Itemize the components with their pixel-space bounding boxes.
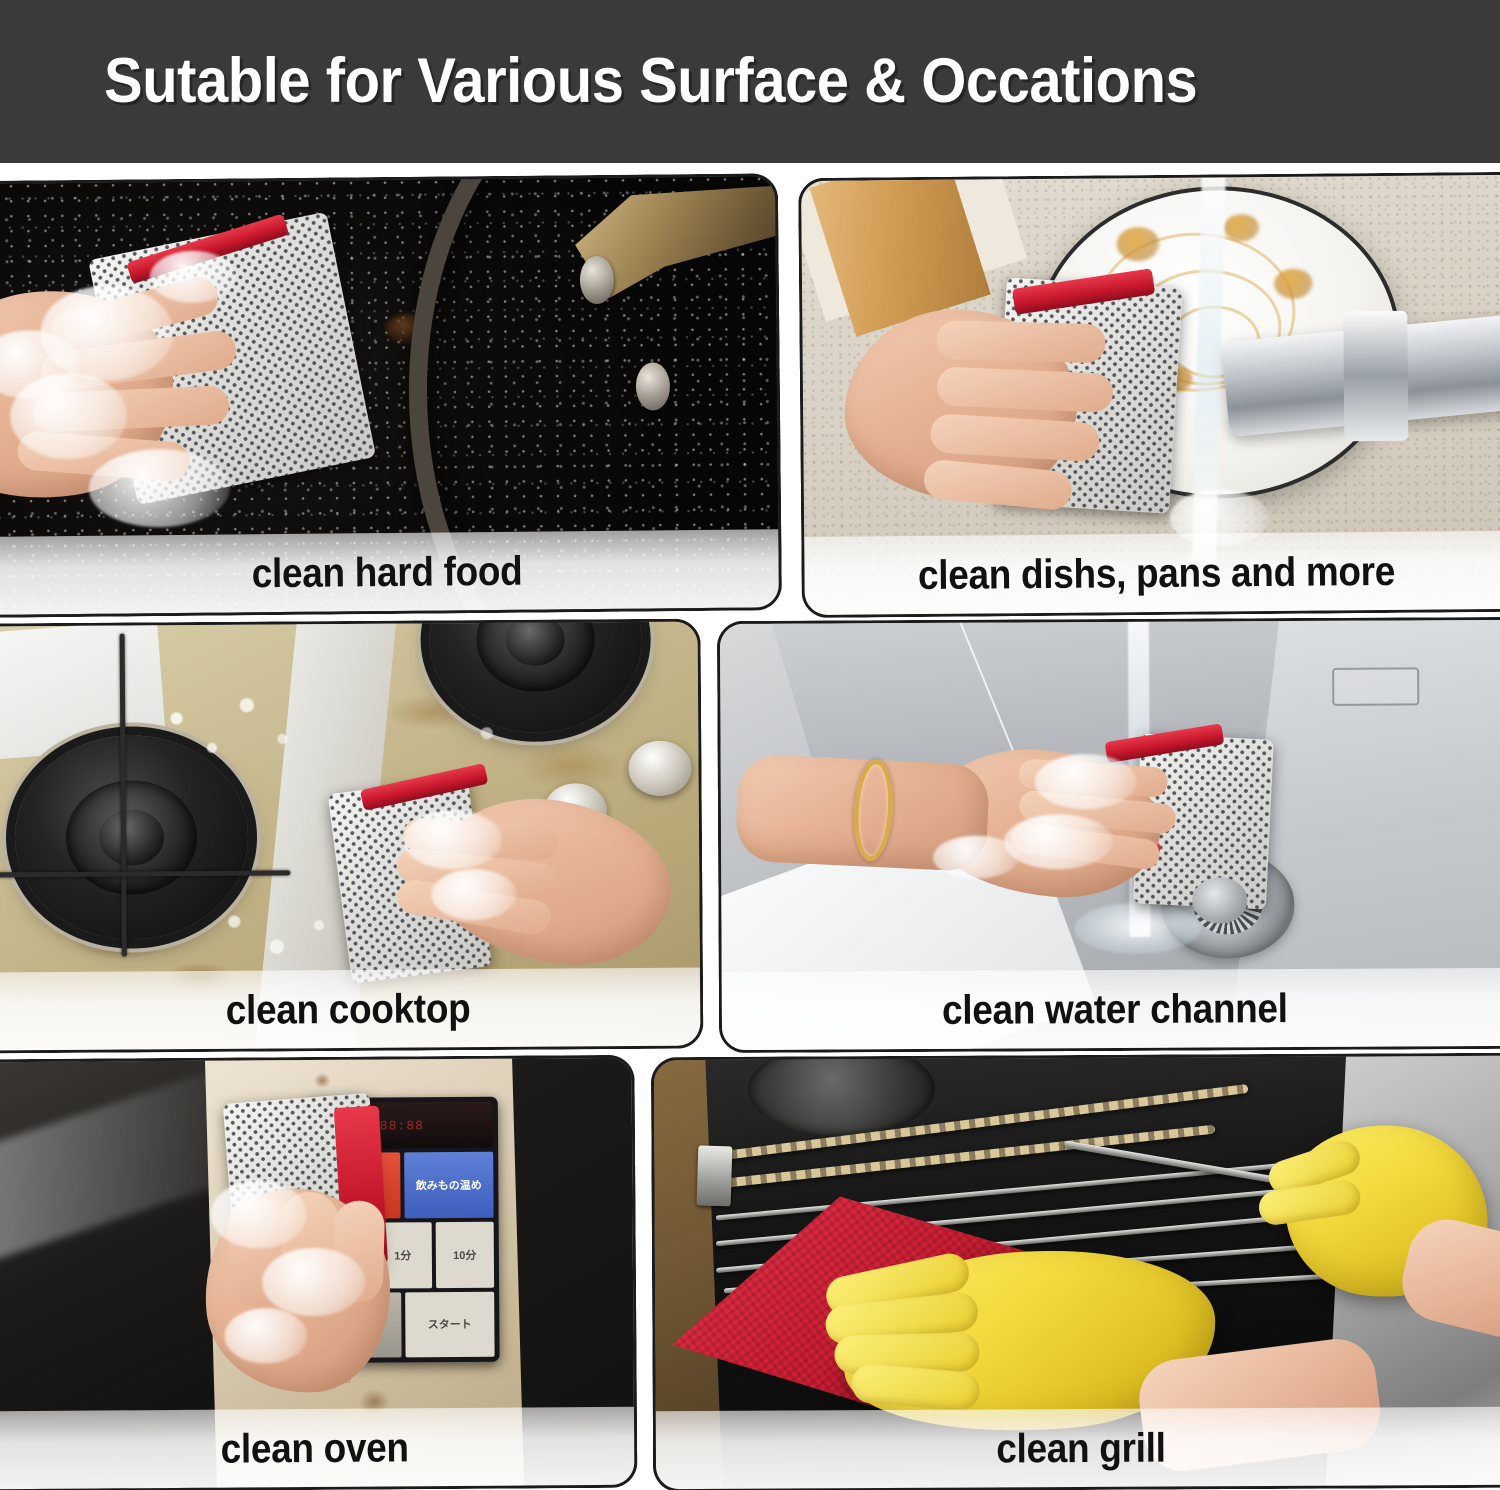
panel-clean-oven[interactable]: 88:88 レンジ 飲みもの温め 10秒 1分 10分 とりけし スタート	[0, 1055, 638, 1490]
caption-strip-dishes: clean dishs, pans and more	[804, 531, 1500, 615]
caption-strip-cooktop: clean cooktop	[0, 968, 700, 1051]
caption-clean-dishes: clean dishs, pans and more	[917, 547, 1394, 598]
caption-strip-grill: clean grill	[656, 1407, 1500, 1489]
caption-strip-water-channel: clean water channel	[722, 968, 1500, 1050]
sauce-spot-1	[1116, 227, 1159, 261]
soap-foam-hand-1	[403, 809, 502, 869]
soap-foam-4	[149, 250, 236, 303]
soap-foam-1	[211, 1180, 307, 1249]
key-10-minutes[interactable]: 10分	[436, 1222, 494, 1288]
sauce-spot-3	[1274, 268, 1314, 299]
page-title: Sutable for Various Surface & Occations	[104, 50, 1197, 113]
soap-foam-2	[262, 1248, 365, 1317]
panel-clean-water-channel[interactable]: clean water channel	[717, 617, 1500, 1053]
display-readout: 88:88	[380, 1118, 424, 1133]
finger-1	[936, 320, 1106, 363]
drain-stopper	[1192, 877, 1247, 924]
panel-clean-grill[interactable]: clean grill	[651, 1053, 1500, 1490]
panel-clean-dishes[interactable]: clean dishs, pans and more	[798, 172, 1500, 618]
caption-clean-grill: clean grill	[997, 1424, 1167, 1472]
caption-clean-oven: clean oven	[221, 1424, 409, 1472]
rack-rail-left	[696, 1145, 732, 1206]
faucet-collar	[1344, 310, 1408, 441]
infographic-page: Sutable for Various Surface & Occations	[0, 0, 1500, 1490]
photo-clean-dishes: clean dishs, pans and more	[801, 175, 1500, 615]
caption-clean-water-channel: clean water channel	[942, 985, 1288, 1034]
caption-strip-oven: clean oven	[0, 1407, 634, 1489]
caption-strip-hard-food: clean hard food	[0, 529, 779, 615]
finger-2	[936, 366, 1113, 413]
pan-rivet-top	[580, 255, 614, 303]
photo-clean-water-channel: clean water channel	[720, 620, 1500, 1050]
panel-grid: clean hard food	[0, 163, 1500, 1490]
caption-clean-hard-food: clean hard food	[252, 547, 523, 597]
header-banner: Sutable for Various Surface & Occations	[0, 0, 1500, 163]
sink-brand-plate	[1332, 667, 1419, 706]
key-warm-drink[interactable]: 飲みもの温め	[404, 1152, 493, 1218]
panel-clean-cooktop[interactable]: clean cooktop	[0, 619, 703, 1054]
caption-clean-cooktop: clean cooktop	[225, 985, 470, 1034]
photo-clean-grill: clean grill	[654, 1056, 1500, 1489]
photo-clean-oven: 88:88 レンジ 飲みもの温め 10秒 1分 10分 とりけし スタート	[0, 1058, 634, 1489]
photo-clean-cooktop: clean cooktop	[0, 622, 700, 1051]
panel-clean-hard-food[interactable]: clean hard food	[0, 173, 782, 618]
photo-clean-hard-food: clean hard food	[0, 176, 779, 614]
soap-foam-hand-2	[431, 869, 516, 920]
key-start[interactable]: スタート	[405, 1291, 494, 1357]
soap-foam-3	[933, 835, 1020, 878]
sauce-spot-2	[1223, 214, 1259, 242]
